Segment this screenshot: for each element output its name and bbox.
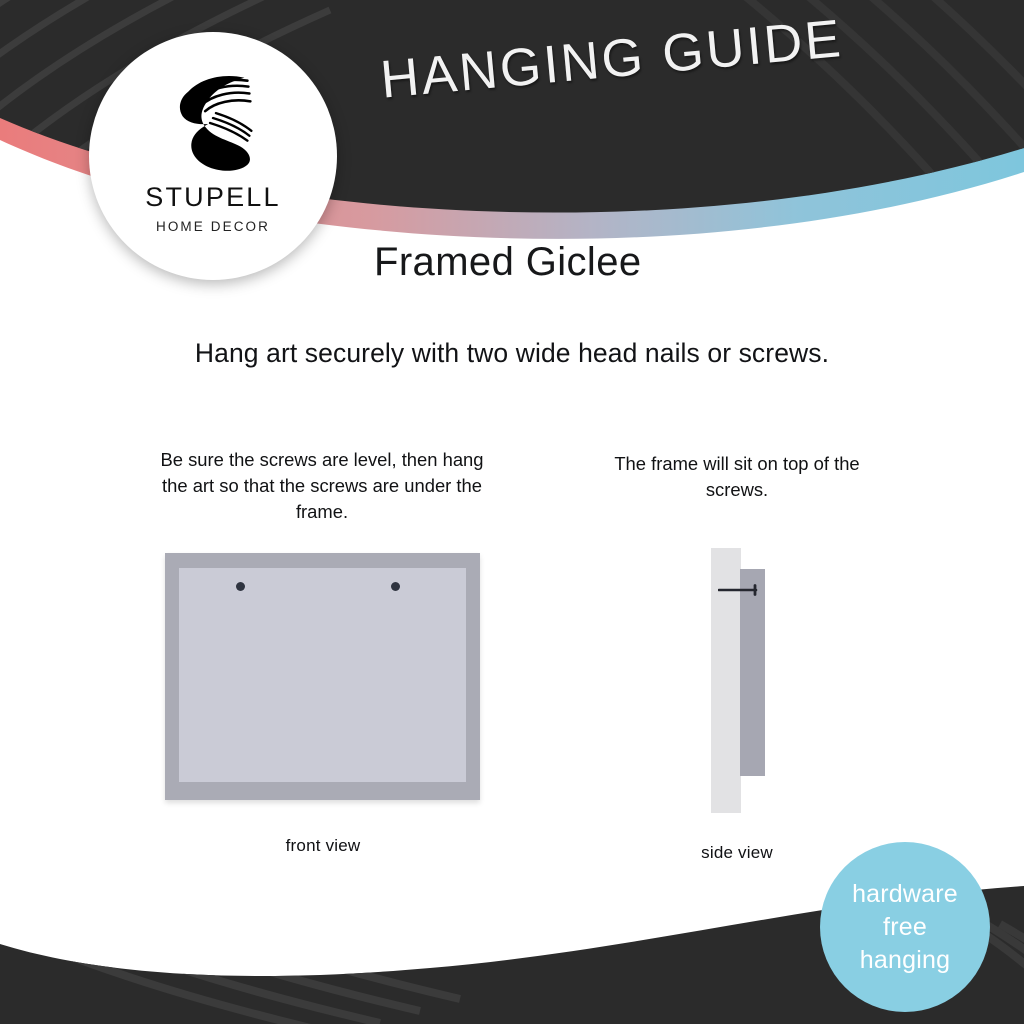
main-instruction-text: Hang art securely with two wide head nai… bbox=[0, 338, 1024, 369]
page-title: HANGING GUIDE bbox=[378, 8, 845, 111]
frame-strip bbox=[740, 569, 765, 776]
side-view-figure bbox=[705, 545, 785, 817]
nail-icon bbox=[718, 584, 760, 596]
hardware-free-hanging-badge: hardware free hanging bbox=[820, 842, 990, 1012]
front-view-label: front view bbox=[170, 836, 476, 856]
stupell-swoosh-icon bbox=[154, 62, 272, 180]
badge-line-3: hanging bbox=[860, 944, 950, 977]
hanging-guide-page: STUPELL HOME DECOR HANGING GUIDE Framed … bbox=[0, 0, 1024, 1024]
side-view-label: side view bbox=[630, 843, 844, 863]
badge-line-2: free bbox=[883, 911, 927, 944]
screw-dot-left bbox=[236, 582, 245, 591]
product-name: Framed Giclee bbox=[374, 240, 642, 285]
front-view-caption: Be sure the screws are level, then hang … bbox=[150, 447, 494, 525]
logo-subwordmark: HOME DECOR bbox=[156, 220, 270, 234]
stupell-logo-badge: STUPELL HOME DECOR bbox=[89, 32, 337, 280]
screw-dot-right bbox=[391, 582, 400, 591]
logo-wordmark: STUPELL bbox=[145, 184, 280, 211]
badge-line-1: hardware bbox=[852, 878, 958, 911]
front-view-figure bbox=[165, 553, 480, 800]
side-view-caption: The frame will sit on top of the screws. bbox=[600, 451, 874, 503]
front-view-mat bbox=[179, 568, 466, 782]
